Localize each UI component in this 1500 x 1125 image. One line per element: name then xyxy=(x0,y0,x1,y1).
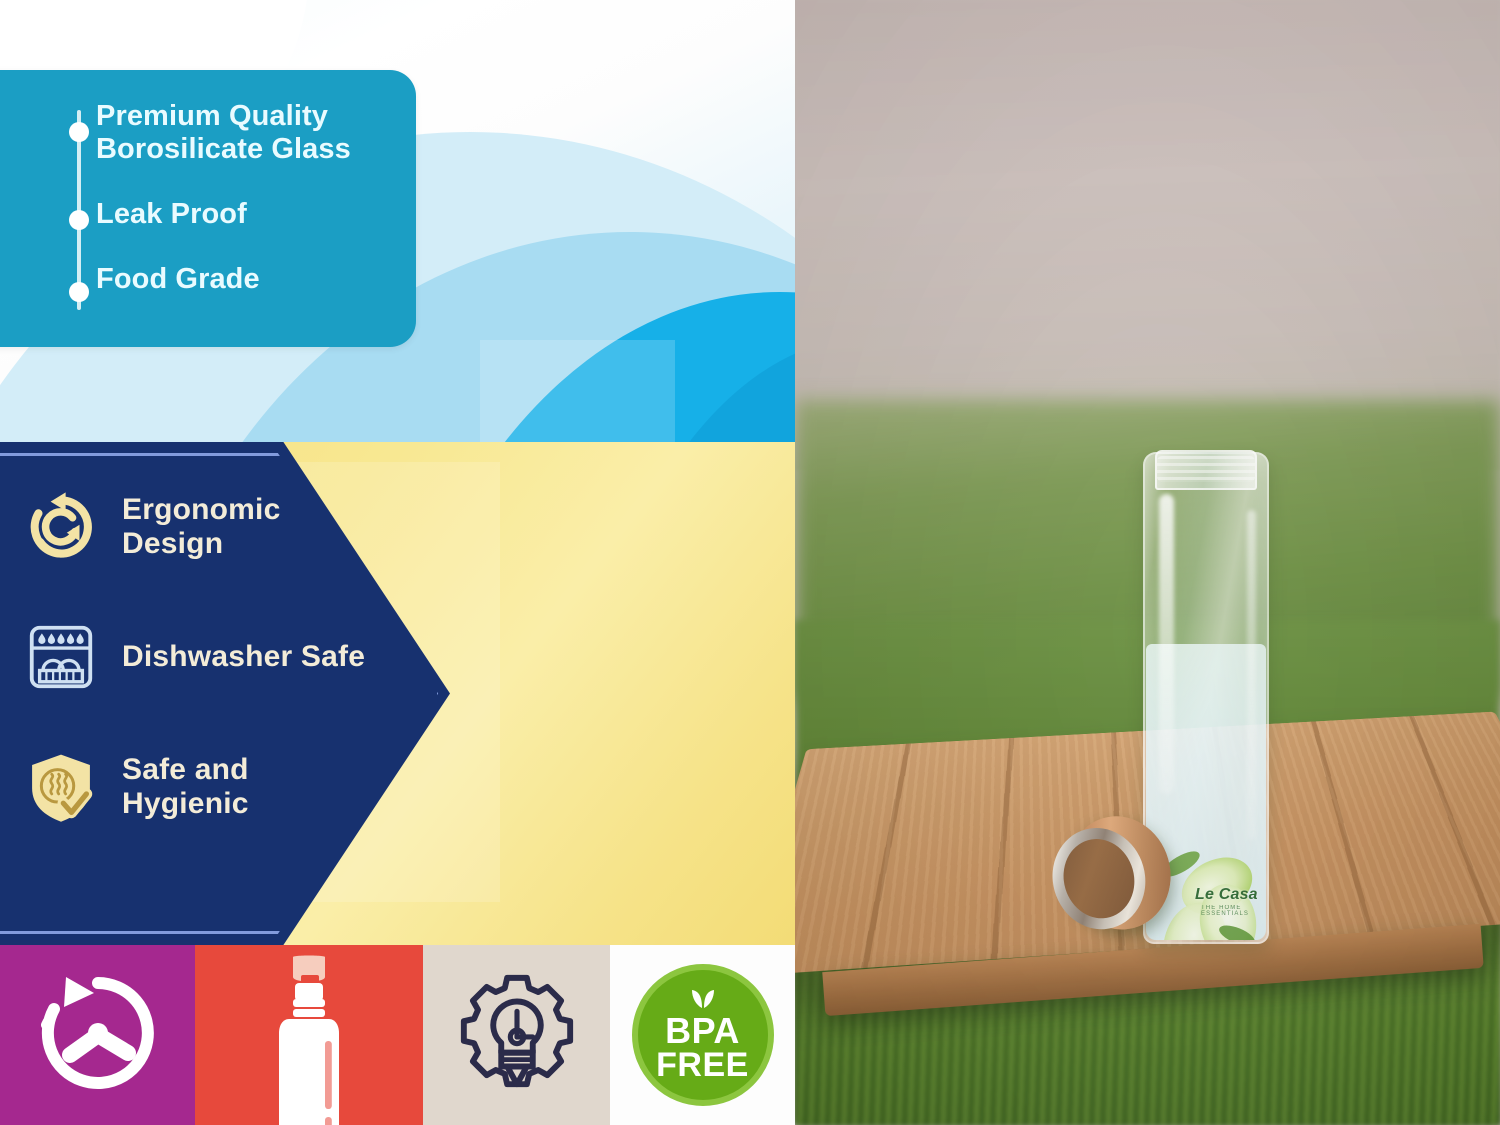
product-photo-panel: Le Casa THE HOME ESSENTIALS xyxy=(795,0,1500,1125)
bottle-brand-tagline: THE HOME ESSENTIALS xyxy=(1201,905,1279,917)
timeline-dot-3 xyxy=(69,282,89,302)
bottle-thread xyxy=(1157,456,1255,482)
infographic-panel: Premium Quality Borosilicate Glass Leak … xyxy=(0,0,795,1125)
bpa-free-tile: BPA FREE xyxy=(610,945,795,1125)
innovation-tile xyxy=(423,945,610,1125)
feature-label-dishwasher-safe: Dishwasher Safe xyxy=(122,640,365,674)
bottle-brand-label: Le Casa xyxy=(1195,886,1273,904)
badge-strip: BPA FREE xyxy=(0,945,795,1125)
durability-clock-tile xyxy=(0,945,195,1125)
timeline-dot-1 xyxy=(69,122,89,142)
feature-label-ergonomic-design: Ergonomic Design xyxy=(122,493,382,560)
feature-row-dishwasher-safe: Dishwasher Safe xyxy=(22,592,382,722)
quality-bullet-list: Premium Quality Borosilicate Glass Leak … xyxy=(96,92,396,296)
sheen-overlay xyxy=(480,340,675,442)
feature-label-safe-hygienic: Safe and Hygienic xyxy=(122,753,382,820)
feature-list: Ergonomic Design xyxy=(22,462,382,852)
bpa-text-line-2: FREE xyxy=(656,1048,749,1083)
dishwasher-icon xyxy=(22,618,100,696)
feature-row-ergonomic-design: Ergonomic Design xyxy=(22,462,382,592)
quality-bullet-1: Premium Quality Borosilicate Glass xyxy=(96,100,396,166)
shield-check-icon xyxy=(22,748,100,826)
bottle-highlight-right xyxy=(1247,510,1256,840)
feature-row-safe-hygienic: Safe and Hygienic xyxy=(22,722,382,852)
bottle-highlight-left xyxy=(1159,494,1174,794)
recycle-arrows-icon xyxy=(22,488,100,566)
quality-bullet-3: Food Grade xyxy=(96,263,396,296)
leaf-icon xyxy=(685,987,721,1011)
product-infographic-canvas: Premium Quality Borosilicate Glass Leak … xyxy=(0,0,1500,1125)
bpa-text-line-1: BPA xyxy=(665,1013,740,1048)
bottle-icon xyxy=(249,953,369,1125)
clock-rotate-icon xyxy=(34,969,162,1102)
bpa-free-badge: BPA FREE xyxy=(632,964,774,1106)
quality-bullet-2: Leak Proof xyxy=(96,198,396,231)
bottle-tile xyxy=(195,945,423,1125)
timeline-dot-2 xyxy=(69,210,89,230)
gear-lightbulb-icon xyxy=(454,970,580,1101)
quality-callout-box: Premium Quality Borosilicate Glass Leak … xyxy=(0,70,416,347)
